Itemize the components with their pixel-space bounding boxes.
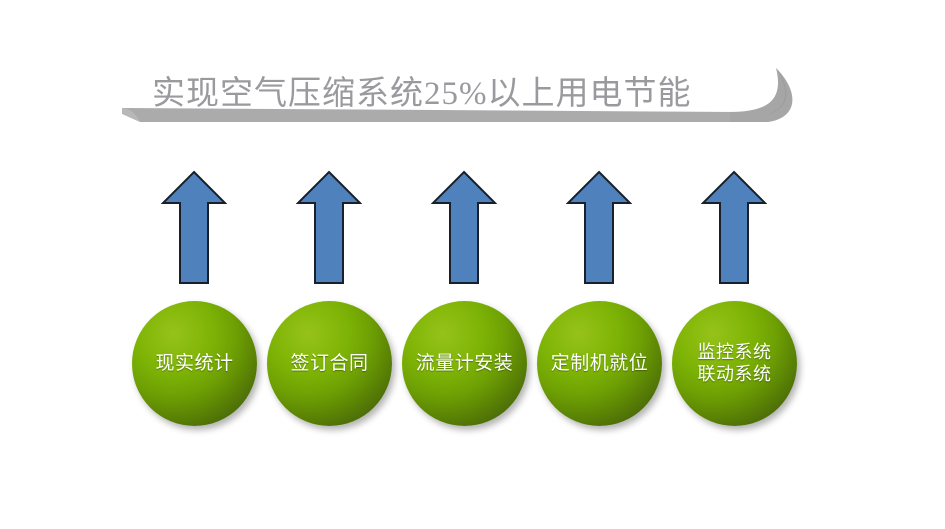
- step-node-4[interactable]: 定制机就位: [537, 301, 662, 426]
- step-node-label: 签订合同: [286, 352, 372, 375]
- slide-canvas: 实现空气压缩系统25%以上用电节能 现实统计 签订合同 流量计安装 定制机: [0, 0, 945, 529]
- step-node-label: 现实统计: [151, 352, 237, 375]
- step-node-5[interactable]: 监控系统 联动系统: [672, 301, 797, 426]
- up-arrow-icon: [431, 170, 497, 286]
- up-arrow-icon: [161, 170, 227, 286]
- up-arrow-4: [566, 170, 632, 286]
- up-arrow-icon: [296, 170, 362, 286]
- up-arrow-3: [431, 170, 497, 286]
- step-node-3[interactable]: 流量计安装: [402, 301, 527, 426]
- step-node-label: 定制机就位: [547, 352, 653, 375]
- page-title: 实现空气压缩系统25%以上用电节能: [152, 70, 752, 118]
- step-node-2[interactable]: 签订合同: [267, 301, 392, 426]
- up-arrow-1: [161, 170, 227, 286]
- up-arrow-5: [701, 170, 767, 286]
- up-arrow-icon: [566, 170, 632, 286]
- step-node-label: 监控系统 联动系统: [694, 342, 776, 386]
- step-node-1[interactable]: 现实统计: [132, 301, 257, 426]
- up-arrow-icon: [701, 170, 767, 286]
- step-node-label: 流量计安装: [412, 352, 518, 375]
- title-banner: 实现空气压缩系统25%以上用电节能: [100, 30, 830, 140]
- up-arrow-2: [296, 170, 362, 286]
